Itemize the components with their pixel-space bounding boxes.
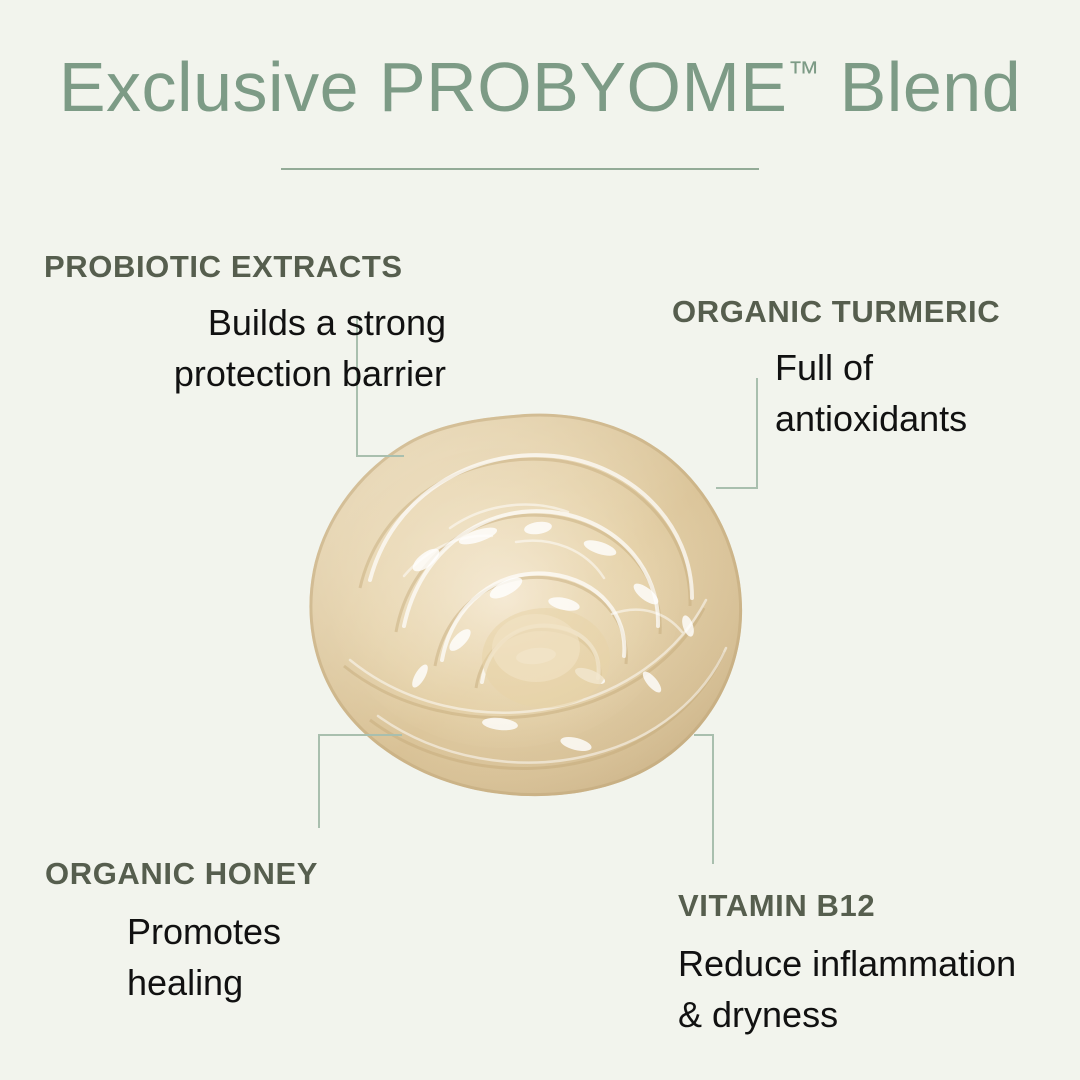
callout-organic-turmeric: ORGANIC TURMERIC Full of antioxidants [672, 294, 1072, 444]
connector-honey-horizontal [318, 734, 402, 736]
callout-heading-honey: ORGANIC HONEY [45, 856, 450, 892]
connector-b12-horizontal [694, 734, 714, 736]
callout-desc-b12: Reduce inflammation & dryness [678, 938, 1078, 1040]
callout-desc-b12-line2: & dryness [678, 994, 838, 1035]
product-image [300, 408, 750, 798]
callout-probiotic-extracts: PROBIOTIC EXTRACTS Builds a strong prote… [30, 249, 450, 399]
callout-desc-honey-line1: Promotes [127, 911, 281, 952]
page-title-main: Exclusive PROBYOME [59, 48, 788, 126]
callout-desc-b12-line1: Reduce inflammation [678, 943, 1016, 984]
page-title: Exclusive PROBYOME™ Blend [0, 52, 1080, 122]
callout-desc-turmeric: Full of antioxidants [775, 342, 1072, 444]
callout-desc-honey-line2: healing [127, 962, 243, 1003]
callout-desc-honey: Promotes healing [127, 906, 450, 1008]
connector-honey-vertical [318, 734, 320, 828]
connector-turmeric-horizontal [716, 487, 758, 489]
title-divider [281, 168, 759, 170]
callout-desc-turmeric-line2: antioxidants [775, 398, 967, 439]
callout-desc-turmeric-line1: Full of [775, 347, 873, 388]
callout-vitamin-b12: VITAMIN B12 Reduce inflammation & drynes… [678, 888, 1078, 1040]
callout-heading-probiotic: PROBIOTIC EXTRACTS [44, 249, 450, 285]
callout-organic-honey: ORGANIC HONEY Promotes healing [30, 856, 450, 1008]
page-title-suffix: Blend [820, 48, 1021, 126]
callout-desc-probiotic: Builds a strong protection barrier [30, 297, 450, 399]
callout-desc-probiotic-line2: protection barrier [174, 353, 446, 394]
callout-heading-turmeric: ORGANIC TURMERIC [672, 294, 1072, 330]
callout-heading-b12: VITAMIN B12 [678, 888, 1078, 924]
callout-desc-probiotic-line1: Builds a strong [208, 302, 446, 343]
trademark-icon: ™ [787, 55, 819, 91]
connector-probiotic-horizontal [356, 455, 404, 457]
connector-b12-vertical [712, 734, 714, 864]
ingredient-infographic: Exclusive PROBYOME™ Blend [0, 0, 1080, 1080]
